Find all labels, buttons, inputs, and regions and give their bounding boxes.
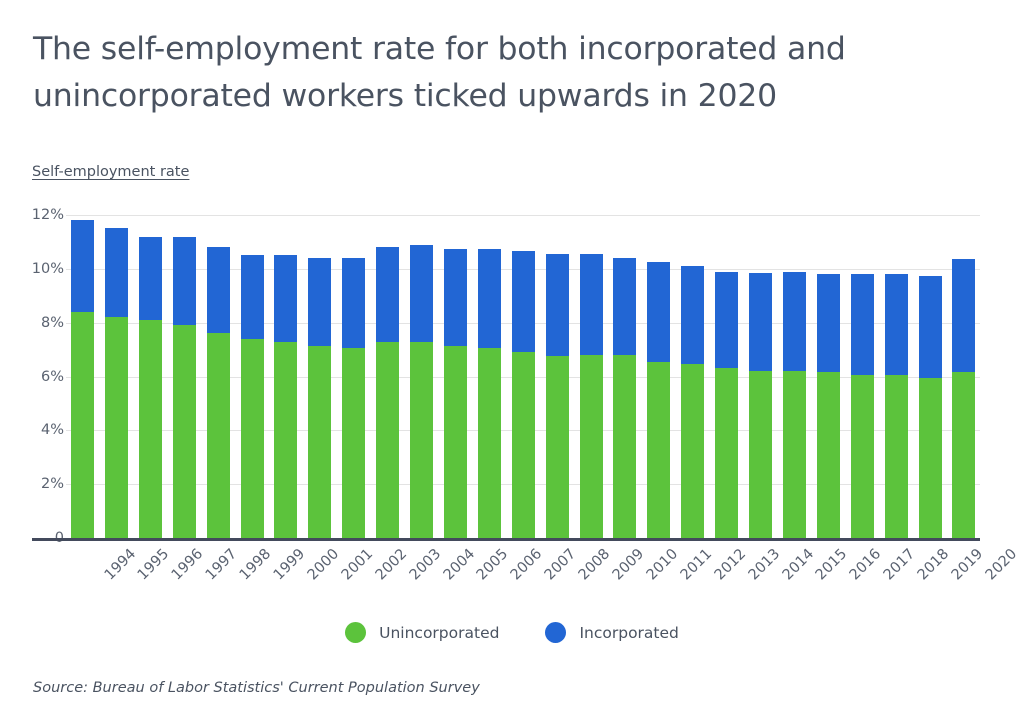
bar-segment-unincorporated[interactable]: [546, 356, 569, 538]
y-axis-tick-label: 10%: [8, 261, 64, 277]
x-axis-tick-label-1997: 1997: [203, 546, 240, 583]
x-axis-tick-label-1999: 1999: [271, 546, 308, 583]
bar-segment-incorporated[interactable]: [342, 258, 365, 348]
bar-2013[interactable]: [715, 272, 738, 538]
plot-area: 02%4%6%8%10%12%: [66, 215, 980, 538]
bar-segment-unincorporated[interactable]: [749, 371, 772, 538]
bar-segment-unincorporated[interactable]: [241, 339, 264, 538]
bar-segment-unincorporated[interactable]: [342, 348, 365, 538]
legend-item-incorporated[interactable]: Incorporated: [545, 622, 678, 643]
bar-2009[interactable]: [580, 254, 603, 538]
bar-segment-unincorporated[interactable]: [478, 348, 501, 538]
bar-2005[interactable]: [444, 249, 467, 538]
bar-segment-incorporated[interactable]: [512, 251, 535, 352]
y-axis-title: Self-employment rate: [32, 164, 189, 180]
chart-legend: UnincorporatedIncorporated: [0, 622, 1024, 643]
x-axis-tick-label-2006: 2006: [508, 546, 545, 583]
bar-segment-unincorporated[interactable]: [817, 372, 840, 538]
bar-segment-incorporated[interactable]: [139, 237, 162, 320]
x-axis-tick-label-2004: 2004: [440, 546, 477, 583]
x-axis-tick-label-2012: 2012: [711, 546, 748, 583]
bar-segment-unincorporated[interactable]: [274, 342, 297, 538]
bar-segment-incorporated[interactable]: [173, 237, 196, 326]
legend-item-label: Incorporated: [579, 624, 678, 642]
x-axis-tick-label-1994: 1994: [101, 546, 138, 583]
bar-segment-unincorporated[interactable]: [444, 346, 467, 538]
bar-2018[interactable]: [885, 274, 908, 538]
bar-2006[interactable]: [478, 249, 501, 538]
bar-segment-unincorporated[interactable]: [207, 333, 230, 538]
x-axis-tick-label-2009: 2009: [610, 546, 647, 583]
bar-segment-incorporated[interactable]: [580, 254, 603, 355]
x-axis-line: [32, 538, 980, 541]
bar-segment-unincorporated[interactable]: [952, 372, 975, 538]
bar-segment-incorporated[interactable]: [647, 262, 670, 362]
x-axis-tick-label-2014: 2014: [779, 546, 816, 583]
bar-segment-incorporated[interactable]: [546, 254, 569, 356]
bar-1997[interactable]: [173, 237, 196, 538]
page-title: The self-employment rate for both incorp…: [33, 26, 993, 120]
x-axis-tick-label-2015: 2015: [813, 546, 850, 583]
bar-2008[interactable]: [546, 254, 569, 538]
bar-2002[interactable]: [342, 258, 365, 538]
bar-1995[interactable]: [105, 228, 128, 538]
bar-segment-unincorporated[interactable]: [139, 320, 162, 538]
y-axis-tick-label: 12%: [8, 207, 64, 223]
y-axis-tick-label: 2%: [8, 476, 64, 492]
bar-1999[interactable]: [241, 255, 264, 538]
bar-segment-incorporated[interactable]: [71, 220, 94, 312]
bar-segment-unincorporated[interactable]: [308, 346, 331, 538]
chart-page: The self-employment rate for both incorp…: [0, 0, 1024, 715]
y-axis-tick-label: 4%: [8, 422, 64, 438]
bar-segment-incorporated[interactable]: [681, 266, 704, 364]
bar-segment-incorporated[interactable]: [817, 274, 840, 372]
y-axis-tick-label: 6%: [8, 369, 64, 385]
bar-segment-incorporated[interactable]: [919, 276, 942, 378]
x-axis-tick-label-2011: 2011: [678, 546, 715, 583]
circle-marker-icon: [345, 622, 366, 643]
legend-item-unincorporated[interactable]: Unincorporated: [345, 622, 499, 643]
bar-1994[interactable]: [71, 220, 94, 538]
bar-segment-incorporated[interactable]: [478, 249, 501, 349]
bar-segment-incorporated[interactable]: [274, 255, 297, 341]
bar-segment-unincorporated[interactable]: [71, 312, 94, 538]
x-axis-tick-label-2020: 2020: [983, 546, 1020, 583]
bar-1998[interactable]: [207, 247, 230, 538]
bar-segment-unincorporated[interactable]: [851, 375, 874, 538]
x-axis-tick-label-2019: 2019: [949, 546, 986, 583]
bar-segment-incorporated[interactable]: [952, 259, 975, 372]
bar-segment-incorporated[interactable]: [308, 258, 331, 345]
bar-2019[interactable]: [919, 276, 942, 538]
bar-segment-unincorporated[interactable]: [919, 378, 942, 538]
bar-2004[interactable]: [410, 245, 433, 538]
bar-2020[interactable]: [952, 259, 975, 538]
bar-segment-unincorporated[interactable]: [580, 355, 603, 538]
bar-segment-unincorporated[interactable]: [647, 362, 670, 538]
bar-segment-unincorporated[interactable]: [105, 317, 128, 538]
bar-segment-incorporated[interactable]: [613, 258, 636, 355]
x-axis-tick-label-2018: 2018: [915, 546, 952, 583]
x-axis-tick-label-2000: 2000: [305, 546, 342, 583]
x-axis-tick-label-2013: 2013: [745, 546, 782, 583]
y-axis-tick-label: 8%: [8, 315, 64, 331]
bar-segment-unincorporated[interactable]: [681, 364, 704, 538]
x-axis-tick-label-2003: 2003: [406, 546, 443, 583]
bar-1996[interactable]: [139, 237, 162, 538]
x-axis-tick-label-2016: 2016: [847, 546, 884, 583]
x-axis-tick-label-2002: 2002: [372, 546, 409, 583]
bar-segment-incorporated[interactable]: [749, 273, 772, 371]
x-axis-tick-label-2008: 2008: [576, 546, 613, 583]
bar-2003[interactable]: [376, 247, 399, 538]
bar-segment-incorporated[interactable]: [241, 255, 264, 338]
bar-segment-incorporated[interactable]: [715, 272, 738, 369]
x-axis-tick-label-2010: 2010: [644, 546, 681, 583]
bar-segment-incorporated[interactable]: [410, 245, 433, 342]
x-axis-tick-label-2001: 2001: [339, 546, 376, 583]
x-axis-tick-label-1996: 1996: [169, 546, 206, 583]
x-axis-tick-label-1995: 1995: [135, 546, 172, 583]
bar-segment-unincorporated[interactable]: [512, 352, 535, 538]
legend-item-label: Unincorporated: [379, 624, 499, 642]
bar-segment-incorporated[interactable]: [851, 274, 874, 375]
bar-2016[interactable]: [817, 274, 840, 538]
x-axis-tick-label-1998: 1998: [237, 546, 274, 583]
bar-segment-unincorporated[interactable]: [410, 342, 433, 538]
bar-segment-unincorporated[interactable]: [376, 342, 399, 538]
bar-2007[interactable]: [512, 251, 535, 538]
bar-segment-incorporated[interactable]: [783, 272, 806, 372]
bar-segment-unincorporated[interactable]: [715, 368, 738, 538]
bar-2001[interactable]: [308, 258, 331, 538]
bar-segment-unincorporated[interactable]: [885, 375, 908, 538]
bar-segment-incorporated[interactable]: [885, 274, 908, 375]
bar-2015[interactable]: [783, 272, 806, 538]
bar-segment-unincorporated[interactable]: [783, 371, 806, 538]
bar-2017[interactable]: [851, 274, 874, 538]
bar-2011[interactable]: [647, 262, 670, 538]
bar-segment-incorporated[interactable]: [376, 247, 399, 341]
source-note: Source: Bureau of Labor Statistics' Curr…: [33, 680, 480, 696]
bar-segment-incorporated[interactable]: [444, 249, 467, 346]
bar-segment-incorporated[interactable]: [207, 247, 230, 333]
bar-2014[interactable]: [749, 273, 772, 538]
x-axis-tick-label-2007: 2007: [542, 546, 579, 583]
bar-segment-unincorporated[interactable]: [173, 325, 196, 538]
bar-segment-unincorporated[interactable]: [613, 355, 636, 538]
gridline: [66, 215, 980, 216]
bar-2010[interactable]: [613, 258, 636, 538]
bar-segment-incorporated[interactable]: [105, 228, 128, 317]
bar-2000[interactable]: [274, 255, 297, 538]
circle-marker-icon: [545, 622, 566, 643]
x-axis-tick-label-2005: 2005: [474, 546, 511, 583]
bar-2012[interactable]: [681, 266, 704, 538]
x-axis-tick-label-2017: 2017: [881, 546, 918, 583]
